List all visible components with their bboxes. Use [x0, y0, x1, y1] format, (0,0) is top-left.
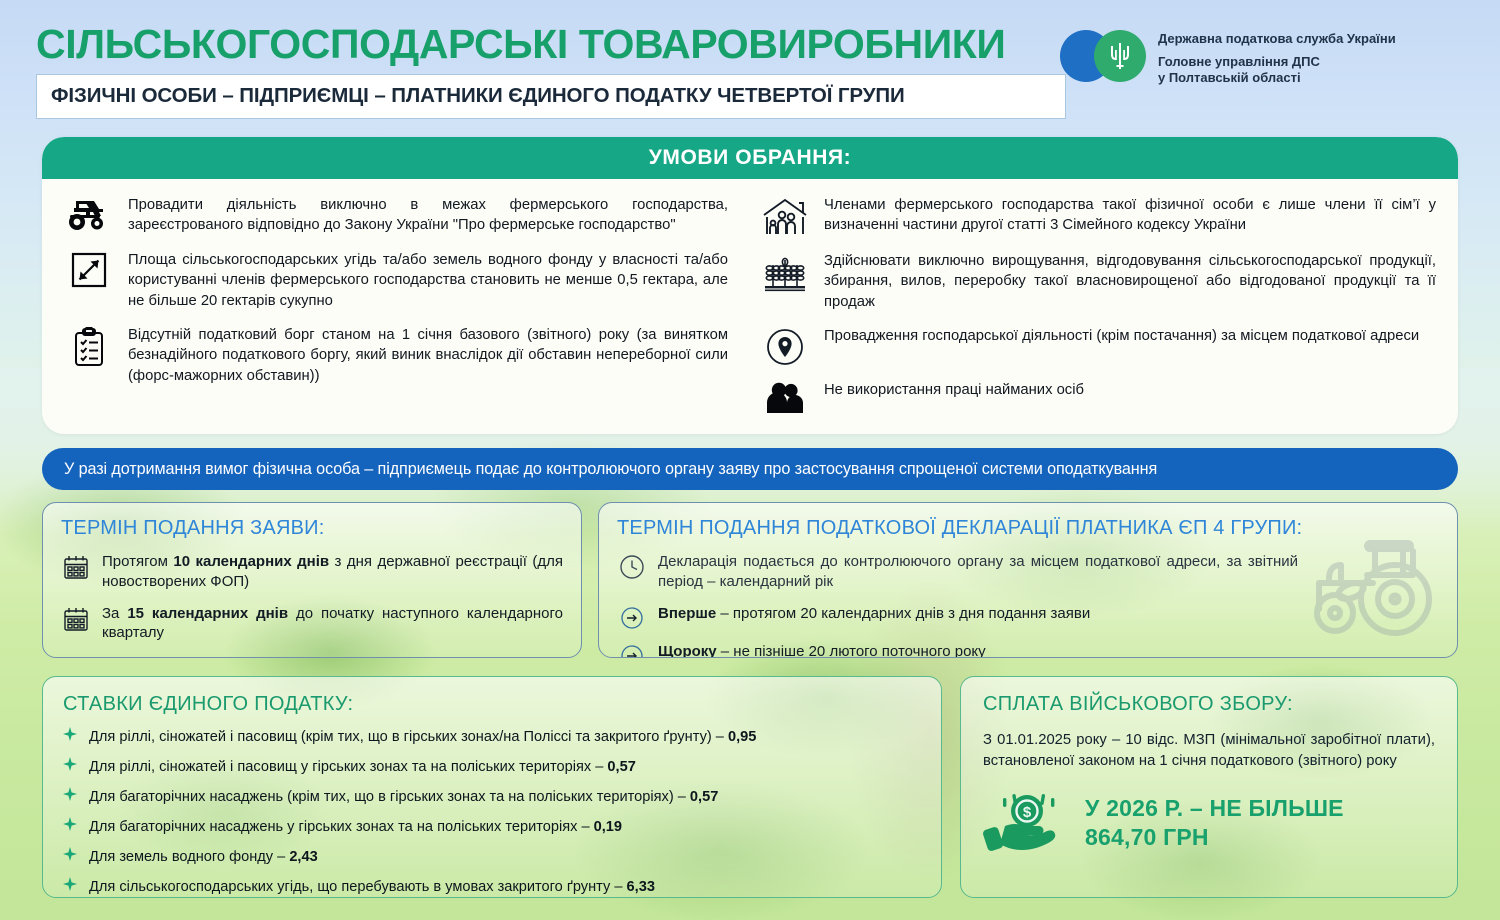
rate-text: Для ріллі, сіножатей і пасовищ у гірськи… — [89, 759, 636, 777]
rate-item: Для ріллі, сіножатей і пасовищ (крім тих… — [63, 727, 921, 747]
infographic-page: СІЛЬСЬКОГОСПОДАРСЬКІ ТОВАРОВИРОБНИКИ ФІЗ… — [0, 0, 1500, 920]
rate-text: Для ріллі, сіножатей і пасовищ (крім тих… — [89, 729, 756, 747]
list-item: Протягом 10 календарних днів з дня держа… — [61, 552, 563, 592]
levy-amount-line-1: У 2026 Р. – НЕ БІЛЬШЕ — [1085, 794, 1344, 822]
declaration-deadline-panel: ТЕРМІН ПОДАННЯ ПОДАТКОВОЇ ДЕКЛАРАЦІЇ ПЛА… — [598, 502, 1458, 658]
family-house-icon — [760, 195, 810, 237]
clock-icon — [617, 552, 647, 580]
condition-text: Здійснювати виключно вирощування, відгод… — [824, 251, 1436, 312]
sparkle-diamond-icon — [63, 817, 79, 834]
conditions-right-column: Членами фермерського господарства такої … — [750, 195, 1458, 428]
list-item: За 15 календарних днів до початку наступ… — [61, 604, 563, 644]
military-levy-title: СПЛАТА ВІЙСЬКОВОГО ЗБОРУ: — [983, 693, 1435, 716]
application-deadline-title: ТЕРМІН ПОДАННЯ ЗАЯВИ: — [61, 517, 563, 540]
list-item-text: Щороку – не пізніше 20 лютого поточного … — [658, 642, 986, 658]
logo-green-circle — [1094, 30, 1146, 82]
conditions-body: Провадити діяльність виключно в межах фе… — [42, 179, 1458, 428]
list-item-text: Вперше – протягом 20 календарних днів з … — [658, 604, 1090, 624]
rate-item: Для земель водного фонду – 2,43 — [63, 847, 921, 867]
rate-item: Для багаторічних насаджень у гірських зо… — [63, 817, 921, 837]
conditions-header: УМОВИ ОБРАННЯ: — [42, 137, 1458, 179]
military-levy-highlight: $ У 2026 Р. – НЕ БІЛЬШЕ 864,70 ГРН — [983, 788, 1435, 857]
people-icon — [760, 380, 810, 414]
arrow-circle-icon — [617, 642, 647, 658]
calendar-icon — [61, 552, 91, 580]
rate-value: 6,33 — [627, 879, 655, 895]
sparkle-diamond-icon — [63, 727, 79, 744]
condition-item: Не використання праці найманих осіб — [760, 380, 1436, 414]
rate-value: 0,57 — [607, 759, 635, 775]
condition-item: Членами фермерського господарства такої … — [760, 195, 1436, 237]
rate-text: Для земель водного фонду – 2,43 — [89, 849, 318, 867]
info-banner: У разі дотримання вимог фізична особа – … — [42, 448, 1458, 490]
condition-item: Здійснювати виключно вирощування, відгод… — [760, 251, 1436, 312]
text-bold: 10 календарних днів — [173, 553, 329, 570]
rate-label: Для багаторічних насаджень у гірських зо… — [89, 819, 594, 835]
rate-label: Для земель водного фонду – — [89, 849, 289, 865]
tax-rates-panel: СТАВКИ ЄДИНОГО ПОДАТКУ: Для ріллі, сінож… — [42, 676, 942, 898]
agency-logo: Державна податкова служба України Головн… — [1060, 24, 1396, 87]
page-title: СІЛЬСЬКОГОСПОДАРСЬКІ ТОВАРОВИРОБНИКИ — [36, 24, 1060, 65]
military-levy-paragraph: З 01.01.2025 року – 10 відс. МЗП (мініма… — [983, 730, 1435, 772]
logo-circles — [1060, 30, 1146, 82]
sparkle-diamond-icon — [63, 847, 79, 864]
condition-text: Провадження господарської діяльності (кр… — [824, 326, 1419, 346]
conditions-left-column: Провадити діяльність виключно в межах фе… — [42, 195, 750, 428]
condition-text: Відсутній податковий борг станом на 1 сі… — [128, 325, 728, 386]
rate-label: Для сільськогосподарських угідь, що пере… — [89, 879, 627, 895]
rate-text: Для багаторічних насаджень (крім тих, що… — [89, 789, 718, 807]
condition-text: Не використання праці найманих осіб — [824, 380, 1084, 400]
sparkle-diamond-icon — [63, 787, 79, 804]
info-banner-text: У разі дотримання вимог фізична особа – … — [64, 460, 1157, 479]
list-item-text: Протягом 10 календарних днів з дня держа… — [102, 552, 563, 592]
rate-label: Для багаторічних насаджень (крім тих, що… — [89, 789, 690, 805]
location-pin-icon — [760, 326, 810, 366]
page-subtitle: ФІЗИЧНІ ОСОБИ – ПІДПРИЄМЦІ – ПЛАТНИКИ ЄД… — [51, 84, 1051, 108]
header-left: СІЛЬСЬКОГОСПОДАРСЬКІ ТОВАРОВИРОБНИКИ ФІЗ… — [0, 24, 1060, 119]
rate-text: Для сільськогосподарських угідь, що пере… — [89, 879, 655, 897]
condition-text: Членами фермерського господарства такої … — [824, 195, 1436, 236]
text-suffix: – протягом 20 календарних днів з дня под… — [716, 605, 1090, 622]
rate-value: 0,95 — [728, 729, 756, 745]
logo-line-2: Головне управління ДПС — [1158, 54, 1396, 71]
text-suffix: Декларація подається до контролюючого ор… — [658, 553, 1298, 590]
wheat-crops-icon — [760, 251, 810, 293]
conditions-card: УМОВИ ОБРАННЯ: — [42, 137, 1458, 434]
tractor-watermark-icon — [1289, 533, 1439, 646]
tractor-icon — [64, 195, 114, 231]
logo-text: Державна податкова служба України Головн… — [1158, 30, 1396, 87]
sparkle-diamond-icon — [63, 757, 79, 774]
logo-line-3: у Полтавській області — [1158, 70, 1396, 87]
rate-value: 0,19 — [594, 819, 622, 835]
military-levy-amount: У 2026 Р. – НЕ БІЛЬШЕ 864,70 ГРН — [1085, 794, 1344, 850]
text-bold: Щороку — [658, 643, 717, 658]
area-arrows-icon — [64, 250, 114, 288]
list-item-text: За 15 календарних днів до початку наступ… — [102, 604, 563, 644]
rate-item: Для багаторічних насаджень (крім тих, що… — [63, 787, 921, 807]
sparkle-diamond-icon — [63, 877, 79, 894]
svg-text:$: $ — [1023, 804, 1032, 821]
rate-text: Для багаторічних насаджень у гірських зо… — [89, 819, 622, 837]
condition-text: Площа сільськогосподарських угідь та/або… — [128, 250, 728, 311]
conditions-heading: УМОВИ ОБРАННЯ: — [649, 146, 852, 170]
rate-label: Для ріллі, сіножатей і пасовищ (крім тих… — [89, 729, 728, 745]
rate-label: Для ріллі, сіножатей і пасовищ у гірськи… — [89, 759, 607, 775]
rate-value: 0,57 — [690, 789, 718, 805]
application-deadline-panel: ТЕРМІН ПОДАННЯ ЗАЯВИ: Протягом 10 календ… — [42, 502, 582, 658]
condition-item: Площа сільськогосподарських угідь та/або… — [64, 250, 728, 311]
condition-item: Відсутній податковий борг станом на 1 сі… — [64, 325, 728, 386]
hand-money-icon: $ — [983, 788, 1069, 857]
trident-icon — [1109, 41, 1131, 71]
rate-item: Для ріллі, сіножатей і пасовищ у гірськи… — [63, 757, 921, 777]
condition-item: Провадження господарської діяльності (кр… — [760, 326, 1436, 366]
text-prefix: За — [102, 605, 127, 622]
rate-item: Для сільськогосподарських угідь, що пере… — [63, 877, 921, 897]
rate-value: 2,43 — [289, 849, 317, 865]
list-item-text: Декларація подається до контролюючого ор… — [658, 552, 1298, 592]
levy-amount-line-2: 864,70 ГРН — [1085, 823, 1344, 851]
tax-rates-title: СТАВКИ ЄДИНОГО ПОДАТКУ: — [63, 693, 921, 716]
calendar-icon — [61, 604, 91, 632]
subtitle-box: ФІЗИЧНІ ОСОБИ – ПІДПРИЄМЦІ – ПЛАТНИКИ ЄД… — [36, 74, 1066, 119]
text-bold: 15 календарних днів — [127, 605, 288, 622]
text-bold: Вперше — [658, 605, 716, 622]
condition-item: Провадити діяльність виключно в межах фе… — [64, 195, 728, 236]
arrow-circle-icon — [617, 604, 647, 630]
condition-text: Провадити діяльність виключно в межах фе… — [128, 195, 728, 236]
clipboard-checklist-icon — [64, 325, 114, 367]
page-header: СІЛЬСЬКОГОСПОДАРСЬКІ ТОВАРОВИРОБНИКИ ФІЗ… — [0, 24, 1500, 124]
logo-line-1: Державна податкова служба України — [1158, 31, 1396, 48]
text-suffix: – не пізніше 20 лютого поточного року — [717, 643, 986, 658]
text-prefix: Протягом — [102, 553, 173, 570]
military-levy-panel: СПЛАТА ВІЙСЬКОВОГО ЗБОРУ: З 01.01.2025 р… — [960, 676, 1458, 898]
